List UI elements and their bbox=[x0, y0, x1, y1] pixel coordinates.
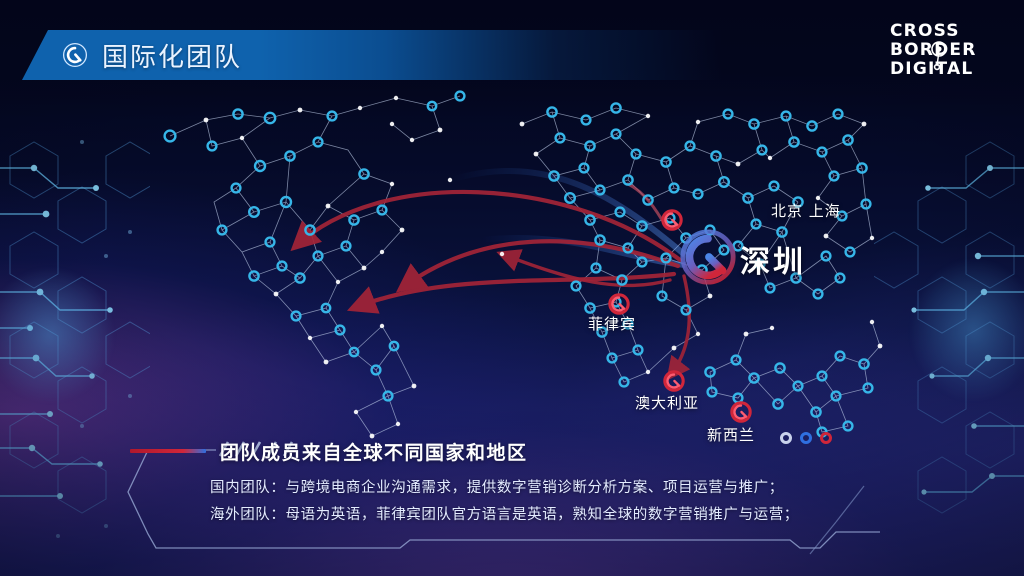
q-logo-icon bbox=[62, 42, 88, 68]
panel-dot-3 bbox=[820, 432, 832, 444]
brand-logo: CROSS BORDER DIGITAL bbox=[890, 22, 1002, 79]
slide-canvas: 国际化团队 CROSS BORDER DIGITAL bbox=[0, 0, 1024, 576]
q-logo-mark-icon bbox=[924, 38, 954, 72]
panel-dot-group bbox=[780, 432, 844, 448]
marker-australia[interactable] bbox=[663, 370, 685, 392]
panel-heading: 团队成员来自全球不同国家和地区 bbox=[220, 438, 528, 465]
panel-accent-bar bbox=[130, 449, 206, 453]
map-label-beijing-shanghai: 北京 上海 bbox=[771, 200, 841, 221]
slide-title-bar: 国际化团队 bbox=[22, 30, 722, 80]
map-label-australia: 澳大利亚 bbox=[635, 392, 699, 413]
marker-philippines[interactable] bbox=[608, 293, 630, 315]
panel-body-line-2: 海外团队：母语为英语，菲律宾团队官方语言是英语，熟知全球的数字营销推广与运营； bbox=[210, 503, 799, 524]
marker-shenzhen[interactable] bbox=[679, 228, 737, 286]
page-title: 国际化团队 bbox=[102, 37, 242, 74]
map-label-shenzhen: 深圳 bbox=[740, 237, 806, 281]
panel-dot-2 bbox=[800, 432, 812, 444]
map-label-philippines: 菲律宾 bbox=[588, 313, 636, 334]
marker-newzealand[interactable] bbox=[730, 401, 752, 423]
summary-panel: 团队成员来自全球不同国家和地区 国内团队：与跨境电商企业沟通需求，提供数字营销诊… bbox=[120, 434, 910, 562]
panel-body-line-1: 国内团队：与跨境电商企业沟通需求，提供数字营销诊断分析方案、项目运营与推广； bbox=[210, 476, 784, 497]
panel-dot-1 bbox=[780, 432, 792, 444]
